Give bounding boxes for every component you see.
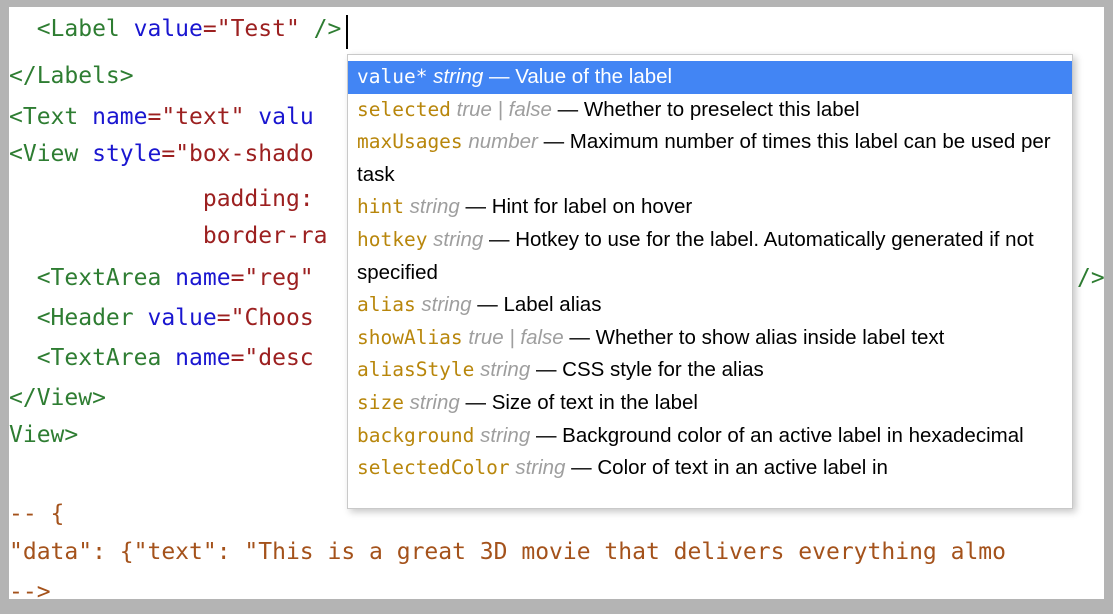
autocomplete-item-type: string xyxy=(416,293,478,316)
autocomplete-item-type: string xyxy=(510,456,572,479)
autocomplete-item-type: string xyxy=(427,228,489,251)
code-token: View> xyxy=(9,422,78,448)
code-token: = xyxy=(217,305,231,331)
code-token: = xyxy=(231,345,245,371)
code-line: <Label value="Test" /> xyxy=(9,11,341,49)
code-editor[interactable]: <Label value="Test" /></Labels><Text nam… xyxy=(9,7,1104,599)
autocomplete-item-description: CSS style for the alias xyxy=(562,358,764,381)
autocomplete-popup[interactable]: value* string — Value of the labelselect… xyxy=(347,54,1073,509)
autocomplete-item-name: selectedColor xyxy=(357,456,510,479)
code-token: </Labels> xyxy=(9,63,134,89)
code-line: --> xyxy=(9,574,51,599)
code-token: <Text xyxy=(9,104,92,130)
autocomplete-item[interactable]: alias string — Label alias xyxy=(348,289,1072,322)
code-line: padding: xyxy=(9,181,314,219)
code-token: value xyxy=(147,305,216,331)
autocomplete-item-description: Whether to preselect this label xyxy=(584,98,860,121)
code-token: value xyxy=(134,16,203,42)
autocomplete-item-type: string xyxy=(474,424,536,447)
autocomplete-item[interactable]: hint string — Hint for label on hover xyxy=(348,191,1072,224)
app-root: <Label value="Test" /></Labels><Text nam… xyxy=(0,0,1113,614)
autocomplete-item-name: size xyxy=(357,391,404,414)
code-line: </Labels> xyxy=(9,58,134,96)
code-token: = xyxy=(147,104,161,130)
code-token: "reg" xyxy=(244,265,313,291)
autocomplete-item-name: showAlias xyxy=(357,326,463,349)
code-token: "text" xyxy=(161,104,258,130)
autocomplete-item-dash: — xyxy=(536,424,562,447)
code-token: "data": {"text": "This is a great 3D mov… xyxy=(9,539,1006,565)
code-token: padding: xyxy=(9,186,314,212)
code-token: "box-shado xyxy=(175,141,313,167)
code-token: <Label xyxy=(9,16,134,42)
autocomplete-item-description: Color of text in an active label in xyxy=(597,456,888,479)
autocomplete-item-name: hint xyxy=(357,195,404,218)
autocomplete-item-dash: — xyxy=(477,293,503,316)
code-line: <TextArea name="desc xyxy=(9,340,314,378)
code-token: border-ra xyxy=(9,223,328,249)
autocomplete-item-name: alias xyxy=(357,293,416,316)
code-fragment-right: /> xyxy=(1077,260,1104,298)
autocomplete-item[interactable]: hotkey string — Hotkey to use for the la… xyxy=(348,224,1072,289)
autocomplete-item-dash: — xyxy=(558,98,584,121)
autocomplete-item[interactable]: showAlias true | false — Whether to show… xyxy=(348,322,1072,355)
autocomplete-item-name: maxUsages xyxy=(357,130,463,153)
autocomplete-item-dash: — xyxy=(466,391,492,414)
code-token: "Test" xyxy=(217,16,314,42)
code-token: style xyxy=(92,141,161,167)
autocomplete-item-description: Hint for label on hover xyxy=(492,195,693,218)
autocomplete-item-name: selected xyxy=(357,98,451,121)
autocomplete-item-dash: — xyxy=(466,195,492,218)
autocomplete-item-type: string xyxy=(404,195,466,218)
code-token: <TextArea xyxy=(9,345,175,371)
code-token: valu xyxy=(258,104,313,130)
autocomplete-item-description: Value of the label xyxy=(515,65,672,88)
code-token: <Header xyxy=(9,305,147,331)
autocomplete-item-type: string xyxy=(404,391,466,414)
autocomplete-item[interactable]: aliasStyle string — CSS style for the al… xyxy=(348,354,1072,387)
code-token: = xyxy=(203,16,217,42)
code-token: </View> xyxy=(9,385,106,411)
code-token: = xyxy=(231,265,245,291)
autocomplete-item-description: Whether to show alias inside label text xyxy=(596,326,945,349)
code-line: </View> xyxy=(9,380,106,418)
code-line: border-ra xyxy=(9,218,328,256)
code-token: name xyxy=(175,265,230,291)
code-line: <View style="box-shado xyxy=(9,136,314,174)
autocomplete-item-type: string xyxy=(427,65,489,88)
code-line: View> xyxy=(9,417,78,455)
autocomplete-item-description: Label alias xyxy=(503,293,601,316)
autocomplete-item-type: string xyxy=(474,358,536,381)
code-token: "Choos xyxy=(231,305,314,331)
autocomplete-item-name: hotkey xyxy=(357,228,427,251)
autocomplete-item-name: aliasStyle xyxy=(357,358,474,381)
autocomplete-item-dash: — xyxy=(569,326,595,349)
code-token: /> xyxy=(314,16,342,42)
autocomplete-item-type: number xyxy=(463,130,544,153)
autocomplete-item[interactable]: maxUsages number — Maximum number of tim… xyxy=(348,126,1072,191)
autocomplete-item-dash: — xyxy=(489,65,515,88)
code-token: name xyxy=(175,345,230,371)
code-line: <Text name="text" valu xyxy=(9,99,314,137)
code-line: "data": {"text": "This is a great 3D mov… xyxy=(9,534,1006,572)
code-token: --> xyxy=(9,579,51,599)
autocomplete-item-dash: — xyxy=(544,130,570,153)
autocomplete-item-name: value* xyxy=(357,65,427,88)
text-caret xyxy=(346,15,348,49)
autocomplete-item-dash: — xyxy=(536,358,562,381)
code-line: <TextArea name="reg" xyxy=(9,260,314,298)
autocomplete-item[interactable]: background string — Background color of … xyxy=(348,420,1072,453)
autocomplete-item-type: true | false xyxy=(463,326,570,349)
autocomplete-item-description: Background color of an active label in h… xyxy=(562,424,1024,447)
autocomplete-item[interactable]: size string — Size of text in the label xyxy=(348,387,1072,420)
autocomplete-item-type: true | false xyxy=(451,98,558,121)
code-token: <TextArea xyxy=(9,265,175,291)
code-token: "desc xyxy=(244,345,313,371)
code-token: <View xyxy=(9,141,92,167)
autocomplete-item[interactable]: selected true | false — Whether to prese… xyxy=(348,94,1072,127)
autocomplete-item-dash: — xyxy=(489,228,515,251)
code-line: -- { xyxy=(9,496,64,534)
autocomplete-item-dash: — xyxy=(571,456,597,479)
autocomplete-item-description: Size of text in the label xyxy=(492,391,698,414)
autocomplete-item-name: background xyxy=(357,424,474,447)
code-token: name xyxy=(92,104,147,130)
autocomplete-item[interactable]: value* string — Value of the label xyxy=(348,61,1072,94)
code-token: = xyxy=(161,141,175,167)
autocomplete-item[interactable]: selectedColor string — Color of text in … xyxy=(348,452,1072,485)
code-token: -- { xyxy=(9,501,64,527)
code-line: <Header value="Choos xyxy=(9,300,314,338)
